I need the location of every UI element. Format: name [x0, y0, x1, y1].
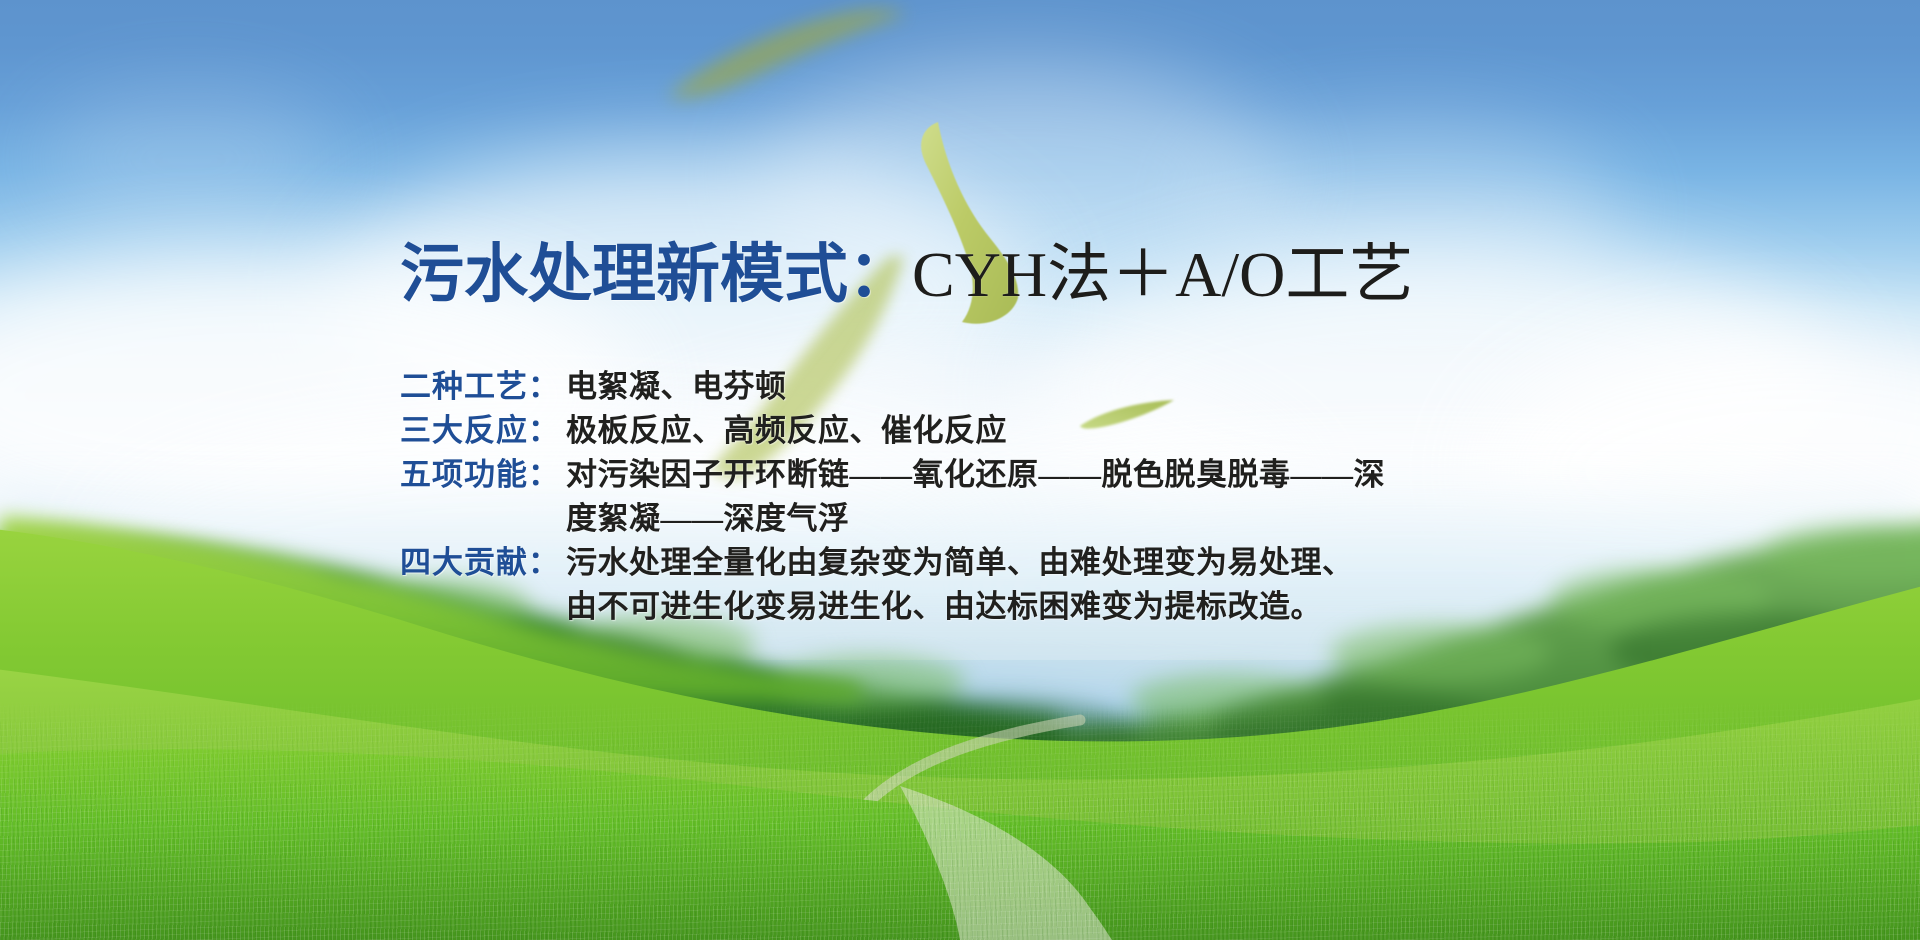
title-secondary: CYH法＋A/O工艺 [912, 239, 1413, 310]
page-title: 污水处理新模式：CYH法＋A/O工艺 [400, 243, 1413, 307]
slide-text-layer: 污水处理新模式：CYH法＋A/O工艺 二种工艺： 电絮凝、电芬顿 三大反应： 极… [0, 0, 1920, 940]
list-item: 四大贡献： 污水处理全量化由复杂变为简单、由难处理变为易处理、 由不可进生化变易… [400, 541, 1520, 629]
list-item: 五项功能： 对污染因子开环断链——氧化还原——脱色脱臭脱毒——深 度絮凝——深度… [400, 453, 1520, 541]
list-item: 二种工艺： 电絮凝、电芬顿 [400, 365, 1520, 409]
bullet-value-line-1: 对污染因子开环断链——氧化还原——脱色脱臭脱毒——深 [566, 457, 1385, 492]
bullet-label: 三大反应： [400, 409, 566, 453]
bullet-value: 污水处理全量化由复杂变为简单、由难处理变为易处理、 由不可进生化变易进生化、由达… [566, 541, 1520, 629]
bullet-value: 对污染因子开环断链——氧化还原——脱色脱臭脱毒——深 度絮凝——深度气浮 [566, 453, 1520, 541]
bullet-value-line-1: 污水处理全量化由复杂变为简单、由难处理变为易处理、 [566, 545, 1354, 580]
bullet-label: 二种工艺： [400, 365, 566, 409]
slide-canvas: 污水处理新模式：CYH法＋A/O工艺 二种工艺： 电絮凝、电芬顿 三大反应： 极… [0, 0, 1920, 940]
bullet-value-line-2: 度絮凝——深度气浮 [566, 497, 1520, 541]
bullet-label: 四大贡献： [400, 541, 566, 585]
list-item: 三大反应： 极板反应、高频反应、催化反应 [400, 409, 1520, 453]
title-primary: 污水处理新模式： [400, 239, 912, 310]
bullet-value: 极板反应、高频反应、催化反应 [566, 409, 1520, 453]
bullet-value-line-2: 由不可进生化变易进生化、由达标困难变为提标改造。 [566, 585, 1520, 629]
bullet-value: 电絮凝、电芬顿 [566, 365, 1520, 409]
bullet-list: 二种工艺： 电絮凝、电芬顿 三大反应： 极板反应、高频反应、催化反应 五项功能：… [400, 365, 1520, 629]
bullet-label: 五项功能： [400, 453, 566, 497]
